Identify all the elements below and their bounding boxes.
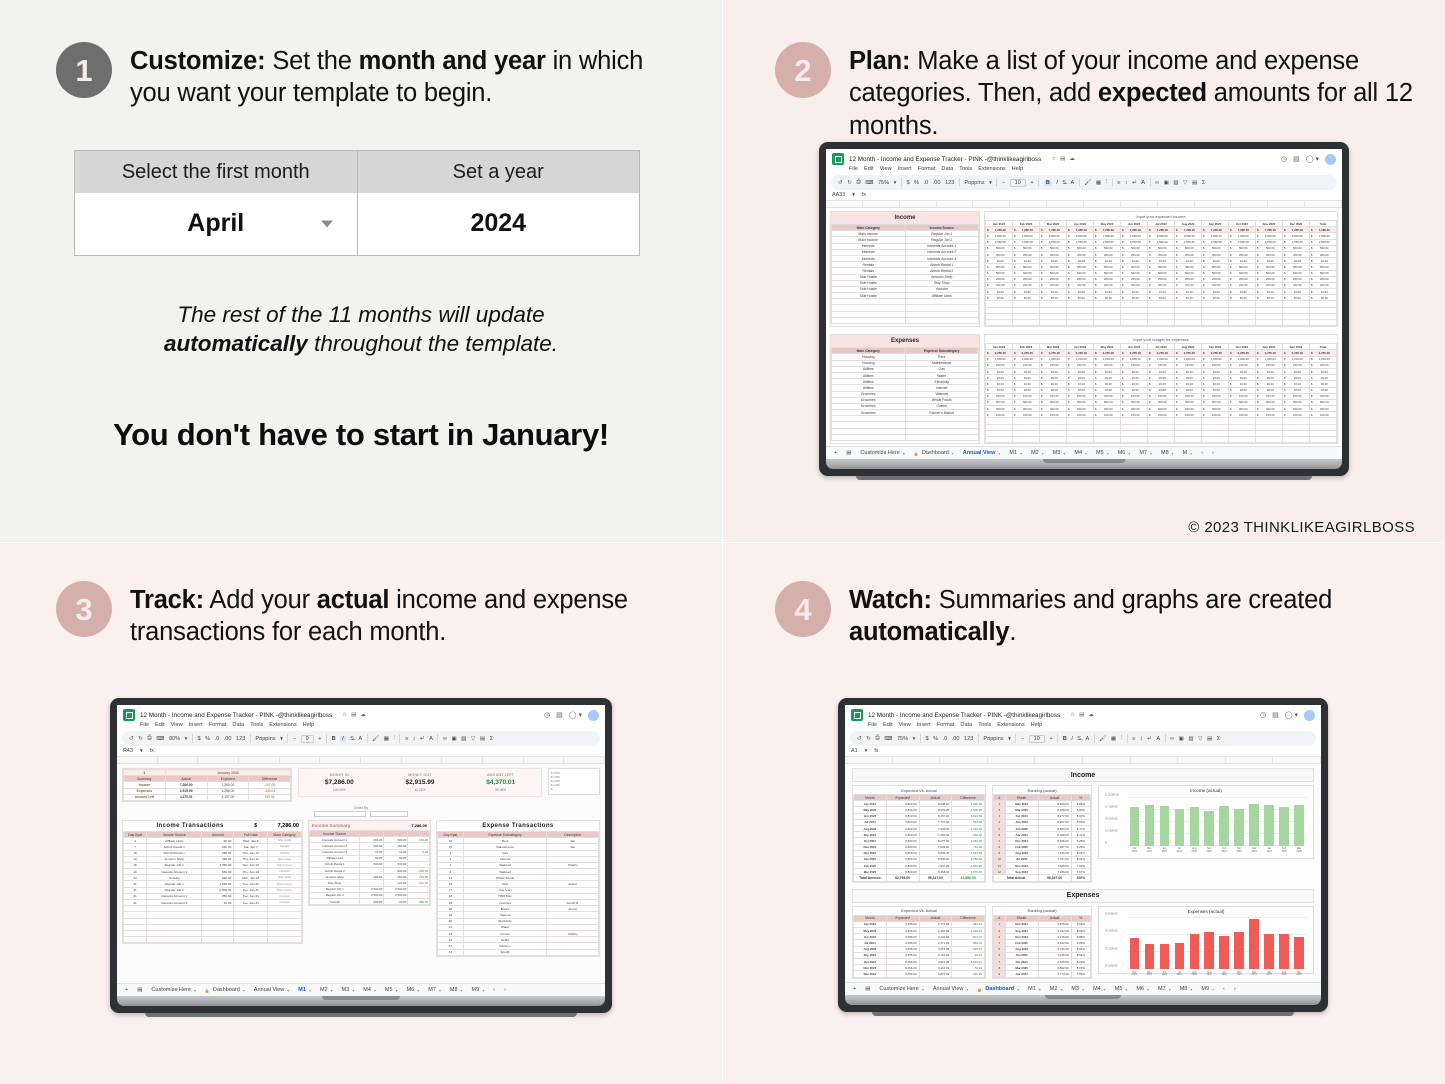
text-color-icon[interactable]: A: [1086, 736, 1090, 742]
document-title-3[interactable]: 12 Month - Income and Expense Tracker - …: [140, 712, 332, 719]
menu-help[interactable]: Help: [303, 722, 315, 728]
column-header[interactable]: [826, 201, 863, 207]
column-header[interactable]: [1121, 201, 1158, 207]
table-row[interactable]: [124, 937, 302, 943]
all-sheets-icon[interactable]: ▤: [865, 986, 870, 992]
amount-cell-empty[interactable]: [1067, 320, 1094, 326]
menu-format[interactable]: Format: [937, 722, 955, 728]
bold-icon[interactable]: B: [1063, 736, 1067, 742]
italic-icon[interactable]: I: [340, 736, 346, 742]
chevron-down-icon[interactable]: ▾: [374, 988, 376, 993]
italic-icon[interactable]: I: [1071, 736, 1073, 742]
sheet-tab-customize-here[interactable]: Customize Here▾: [151, 987, 195, 993]
amount-cell-empty[interactable]: [1229, 320, 1256, 326]
chevron-down-icon[interactable]: ▾: [309, 988, 311, 993]
menu-edit[interactable]: Edit: [864, 166, 874, 172]
text-wrap-icon[interactable]: ↵: [420, 736, 425, 742]
history-icon[interactable]: ◷: [1281, 155, 1287, 163]
insert-comment-icon[interactable]: ▣: [1164, 180, 1169, 186]
etx-day[interactable]: 31: [438, 949, 464, 955]
tx-empty[interactable]: [202, 937, 234, 943]
horizontal-align-icon[interactable]: ≡: [1132, 736, 1135, 742]
amount-cell-empty[interactable]: [1067, 437, 1094, 443]
undo-icon[interactable]: ↺: [129, 736, 134, 742]
etx-subcategory[interactable]: Spotify: [463, 949, 547, 955]
sigma-icon[interactable]: Σ: [490, 736, 493, 742]
order-by-select-1[interactable]: [314, 811, 366, 817]
income-summary-table[interactable]: Income Source Interests Account 1666.005…: [309, 830, 430, 905]
sigma-icon[interactable]: Σ: [1202, 180, 1205, 186]
more-formats-icon[interactable]: 123: [236, 736, 245, 742]
table-row[interactable]: Dec 20243,056.003,876.99820.99: [854, 971, 985, 977]
tx-empty[interactable]: [268, 937, 302, 943]
spreadsheet-grid-2[interactable]: Income Main Category Income Source Main …: [826, 208, 1342, 456]
expenses-amounts-table[interactable]: Jan 2023Feb 2023Mar 2023Apr 2023May 2023…: [985, 343, 1337, 443]
amount-cell-empty[interactable]: [1283, 320, 1310, 326]
menu-format[interactable]: Format: [918, 166, 936, 172]
star-icon[interactable]: ☆: [1051, 156, 1056, 162]
chevron-down-icon[interactable]: ▾: [396, 988, 398, 993]
history-icon[interactable]: ◷: [544, 711, 550, 719]
avatar[interactable]: [588, 710, 599, 721]
amount-cell-empty[interactable]: [1094, 437, 1121, 443]
font-size-input-2[interactable]: 10: [1010, 179, 1026, 187]
vertical-align-icon[interactable]: ↕: [1125, 180, 1128, 186]
amount-cell-empty[interactable]: [1229, 437, 1256, 443]
text-color-icon[interactable]: A: [358, 736, 362, 742]
amount-cell-empty[interactable]: [1148, 320, 1175, 326]
amount-cell-empty[interactable]: [1013, 320, 1040, 326]
zoom-caret-icon[interactable]: ▾: [894, 180, 897, 186]
column-header[interactable]: [1010, 201, 1047, 207]
scroll-left-icon[interactable]: ‹: [493, 987, 495, 993]
menu-view[interactable]: View: [899, 722, 911, 728]
menu-tools[interactable]: Tools: [978, 722, 991, 728]
text-wrap-icon[interactable]: ↵: [1147, 736, 1152, 742]
sheet-tab-m7[interactable]: M7▾: [1139, 450, 1152, 456]
income-eva-table[interactable]: Month Expected Actual Difference Apr 202…: [853, 794, 985, 882]
sheet-tab-m5[interactable]: M5▾: [1096, 450, 1109, 456]
add-sheet-icon[interactable]: +: [853, 986, 856, 992]
font-caret-icon[interactable]: ▾: [1008, 736, 1011, 742]
percent-icon[interactable]: %: [205, 736, 210, 742]
sheet-tab-m5[interactable]: M5▾: [1115, 986, 1128, 992]
menu-data[interactable]: Data: [232, 722, 244, 728]
month-summary-table[interactable]: 1 January 2023 Summary Actual Expected D…: [123, 769, 291, 801]
comment-icon[interactable]: ▤: [556, 711, 563, 719]
menu-format[interactable]: Format: [209, 722, 227, 728]
text-rotation-icon[interactable]: A: [1141, 180, 1145, 186]
link-icon[interactable]: ∞: [1155, 180, 1159, 186]
chevron-down-icon[interactable]: ▾: [1082, 987, 1084, 992]
sheet-tab-dashboard[interactable]: 🔒Dashboard▾: [205, 987, 245, 993]
table-row[interactable]: [832, 317, 979, 323]
menu-extensions[interactable]: Extensions: [978, 166, 1005, 172]
move-icon[interactable]: ▤: [1079, 712, 1084, 718]
column-header[interactable]: [198, 757, 239, 763]
chevron-down-icon[interactable]: ▾: [1212, 987, 1214, 992]
paint-format-icon[interactable]: ⌨: [884, 736, 892, 742]
amount-cell-empty[interactable]: [1202, 437, 1229, 443]
link-icon[interactable]: ∞: [1170, 736, 1174, 742]
cloud-icon[interactable]: ☁: [360, 712, 366, 718]
font-family-select-3[interactable]: Poppins: [255, 736, 275, 742]
tx-empty[interactable]: [234, 937, 268, 943]
menu-view[interactable]: View: [171, 722, 183, 728]
expenses-ranking-table[interactable]: # Month Actual % 1Dec 20243,876.999.63%2…: [993, 915, 1091, 978]
cell-reference-4[interactable]: A1: [851, 748, 858, 754]
column-header[interactable]: [1231, 201, 1268, 207]
menu-insert[interactable]: Insert: [898, 166, 912, 172]
borders-icon[interactable]: ▦: [1096, 180, 1101, 186]
font-increase-icon[interactable]: +: [318, 736, 321, 742]
tx-empty[interactable]: [147, 937, 202, 943]
table-row[interactable]: [986, 437, 1337, 443]
column-header[interactable]: [1047, 201, 1084, 207]
chevron-down-icon[interactable]: ▾: [903, 451, 905, 456]
redo-icon[interactable]: ↻: [847, 180, 852, 186]
menu-file[interactable]: File: [849, 166, 858, 172]
sheet-tab-customize-here[interactable]: Customize Here▾: [879, 986, 923, 992]
meet-icon[interactable]: ◯ ▾: [1306, 155, 1319, 163]
chevron-down-icon[interactable]: ▾: [331, 988, 333, 993]
expenses-category-table[interactable]: Main Category Expense Subcategory Housin…: [831, 347, 979, 441]
chevron-down-icon[interactable]: ▾: [439, 988, 441, 993]
strikethrough-icon[interactable]: S̶: [1077, 736, 1081, 742]
merge-cells-icon[interactable]: ⫶: [1106, 179, 1107, 186]
chevron-down-icon[interactable]: ▾: [1172, 451, 1174, 456]
sigma-icon[interactable]: Σ: [1217, 736, 1220, 742]
history-icon[interactable]: ◷: [1260, 711, 1266, 719]
chevron-down-icon[interactable]: ▾: [952, 451, 954, 456]
insert-chart-icon[interactable]: ▨: [461, 736, 466, 742]
document-title-4[interactable]: 12 Month - Income and Expense Tracker - …: [868, 712, 1060, 719]
column-header[interactable]: [1158, 201, 1195, 207]
menu-view[interactable]: View: [880, 166, 892, 172]
scroll-right-icon[interactable]: ›: [1234, 986, 1236, 992]
currency-icon[interactable]: $: [906, 180, 909, 186]
sheet-tab-annual-view[interactable]: Annual View▾: [963, 450, 1001, 456]
menu-data[interactable]: Data: [960, 722, 972, 728]
column-header[interactable]: [239, 757, 280, 763]
name-box-caret-icon[interactable]: ▾: [140, 748, 143, 754]
scroll-right-icon[interactable]: ›: [1212, 450, 1214, 456]
add-sheet-icon[interactable]: +: [834, 450, 837, 456]
zoom-level-4[interactable]: 75%: [897, 736, 908, 742]
menu-data[interactable]: Data: [941, 166, 953, 172]
chevron-down-icon[interactable]: ▾: [1060, 987, 1062, 992]
star-icon[interactable]: ☆: [1070, 712, 1075, 718]
name-box-caret-icon[interactable]: ▾: [852, 192, 855, 198]
table-row[interactable]: Youtube399.0010.00389.00: [310, 899, 430, 905]
strikethrough-icon[interactable]: S̶: [350, 736, 354, 742]
bold-icon[interactable]: B: [1044, 180, 1052, 186]
fill-color-icon[interactable]: 🖌: [372, 736, 379, 742]
menu-edit[interactable]: Edit: [883, 722, 893, 728]
move-icon[interactable]: ▤: [351, 712, 356, 718]
amount-cell-empty[interactable]: [1121, 320, 1148, 326]
column-header[interactable]: [402, 757, 443, 763]
chevron-down-icon[interactable]: ▾: [1150, 451, 1152, 456]
column-header[interactable]: [158, 757, 199, 763]
insert-comment-icon[interactable]: ▣: [1179, 736, 1184, 742]
chevron-down-icon[interactable]: ▾: [1169, 987, 1171, 992]
chevron-down-icon[interactable]: ▾: [287, 988, 289, 993]
insert-chart-icon[interactable]: ▨: [1173, 180, 1178, 186]
menu-file[interactable]: File: [868, 722, 877, 728]
chevron-down-icon[interactable]: ▾: [1020, 451, 1022, 456]
sheet-tab-m2[interactable]: M2▾: [1031, 450, 1044, 456]
star-icon[interactable]: ☆: [342, 712, 347, 718]
amount-cell-empty[interactable]: [1094, 320, 1121, 326]
sheet-tab-m4[interactable]: M4▾: [1074, 450, 1087, 456]
sheet-tab-m7[interactable]: M7▾: [1158, 986, 1171, 992]
order-by-select-2[interactable]: [370, 811, 408, 817]
scroll-left-icon[interactable]: ‹: [1201, 450, 1203, 456]
income-amounts-table[interactable]: Jan 2023Feb 2023Mar 2023Apr 2023May 2023…: [985, 220, 1337, 326]
column-header[interactable]: [937, 201, 974, 207]
column-header[interactable]: [845, 757, 893, 763]
scroll-right-icon[interactable]: ›: [504, 987, 506, 993]
amount-cell-empty[interactable]: [1175, 437, 1202, 443]
sheet-tab-dashboard[interactable]: 🔒Dashboard▾: [914, 450, 954, 456]
chevron-down-icon[interactable]: ▾: [1190, 987, 1192, 992]
column-header[interactable]: [1178, 757, 1226, 763]
cell-reference-3[interactable]: R43: [123, 748, 133, 754]
sheet-tab-m5[interactable]: M5▾: [385, 987, 398, 993]
sheet-tab-m6[interactable]: M6▾: [1136, 986, 1149, 992]
comment-icon[interactable]: ▤: [1293, 155, 1300, 163]
sheet-tab-annual-view[interactable]: Annual View▾: [933, 986, 969, 992]
avatar[interactable]: [1304, 710, 1315, 721]
expenses-eva-table[interactable]: Month Expected Actual Difference Apr 202…: [853, 915, 985, 978]
functions-icon[interactable]: ▤: [480, 736, 485, 742]
sheet-tab-m1[interactable]: M1▾: [1028, 986, 1041, 992]
all-sheets-icon[interactable]: ▤: [137, 987, 142, 993]
functions-icon[interactable]: ▤: [1207, 736, 1212, 742]
font-family-select-4[interactable]: Poppins: [983, 736, 1003, 742]
fill-color-icon[interactable]: 🖌: [1099, 736, 1106, 742]
font-family-select-2[interactable]: Poppins: [964, 180, 984, 186]
month-dropdown[interactable]: April: [75, 193, 358, 255]
menu-insert[interactable]: Insert: [189, 722, 203, 728]
chevron-down-icon[interactable]: ▾: [417, 988, 419, 993]
amount-cell-empty[interactable]: [1148, 437, 1175, 443]
chevron-down-icon[interactable]: ▾: [1107, 451, 1109, 456]
chevron-down-icon[interactable]: ▾: [998, 451, 1000, 456]
sheet-tab-m[interactable]: M▾: [1183, 450, 1193, 456]
font-increase-icon[interactable]: +: [1030, 180, 1033, 186]
table-row[interactable]: [832, 434, 979, 440]
zoom-level-2[interactable]: 75%: [878, 180, 889, 186]
font-size-input-4[interactable]: 10: [1029, 735, 1045, 743]
menu-insert[interactable]: Insert: [917, 722, 931, 728]
horizontal-align-icon[interactable]: ≡: [1117, 180, 1120, 186]
functions-icon[interactable]: ▤: [1192, 180, 1197, 186]
decimal-decrease-icon[interactable]: .0: [943, 736, 948, 742]
borders-icon[interactable]: ▦: [384, 736, 389, 742]
sheet-tab-m7[interactable]: M7▾: [428, 987, 441, 993]
percent-icon[interactable]: %: [933, 736, 938, 742]
sheet-tab-m8[interactable]: M8▾: [450, 987, 463, 993]
sheet-tab-m2[interactable]: M2▾: [320, 987, 333, 993]
currency-icon[interactable]: $: [925, 736, 928, 742]
chevron-down-icon[interactable]: ▾: [1128, 451, 1130, 456]
sheet-tab-m9[interactable]: M9▾: [1201, 986, 1214, 992]
sheet-tab-m3[interactable]: M3▾: [1071, 986, 1084, 992]
strikethrough-icon[interactable]: S̶: [1062, 180, 1066, 186]
dashboard-grid-4[interactable]: Income Expected Vs. Actual Month Expecte…: [845, 764, 1321, 992]
column-header[interactable]: [1083, 757, 1131, 763]
font-decrease-icon[interactable]: −: [1002, 180, 1005, 186]
horizontal-align-icon[interactable]: ≡: [405, 736, 408, 742]
income-transactions-table[interactable]: Day Kyat Income Source Amount Full Date …: [123, 831, 302, 943]
comment-icon[interactable]: ▤: [1272, 711, 1279, 719]
column-header[interactable]: [483, 757, 524, 763]
chevron-down-icon[interactable]: ▾: [482, 988, 484, 993]
amount-cell-empty[interactable]: [1040, 320, 1067, 326]
chevron-down-icon[interactable]: ▾: [966, 987, 968, 992]
amount-cell-empty[interactable]: [1310, 320, 1337, 326]
column-header[interactable]: [361, 757, 402, 763]
filter-icon[interactable]: ▽: [1183, 180, 1187, 186]
amount-cell-empty[interactable]: [1175, 320, 1202, 326]
column-header[interactable]: [524, 757, 565, 763]
column-header[interactable]: [1273, 757, 1321, 763]
add-sheet-icon[interactable]: +: [125, 987, 128, 993]
table-row[interactable]: 31Spotify: [438, 949, 599, 955]
column-header[interactable]: [564, 757, 605, 763]
table-row[interactable]: [986, 320, 1337, 326]
column-header[interactable]: [940, 757, 988, 763]
amount-cell-empty[interactable]: [1121, 437, 1148, 443]
table-row[interactable]: 9Apr 20242,774.997.89%: [994, 971, 1091, 977]
expense-transactions-table[interactable]: Day Kyat Expense Subcategory Description…: [437, 831, 599, 956]
decimal-increase-icon[interactable]: .00: [952, 736, 960, 742]
amount-cell-empty[interactable]: [1040, 437, 1067, 443]
zoom-caret-icon[interactable]: ▾: [913, 736, 916, 742]
column-header[interactable]: [900, 201, 937, 207]
amount-cell-empty[interactable]: [1202, 320, 1229, 326]
paint-format-icon[interactable]: ⌨: [865, 180, 873, 186]
print-icon[interactable]: ⎙: [856, 179, 860, 186]
move-icon[interactable]: ▤: [1060, 156, 1065, 162]
chevron-down-icon[interactable]: ▾: [461, 988, 463, 993]
avatar[interactable]: [1325, 154, 1336, 165]
etx-description[interactable]: [547, 949, 599, 955]
menu-tools[interactable]: Tools: [250, 722, 263, 728]
amount-cell-empty[interactable]: [1310, 437, 1337, 443]
name-box-caret-icon[interactable]: ▾: [865, 748, 868, 754]
chevron-down-icon[interactable]: ▾: [243, 988, 245, 993]
sheet-tab-m9[interactable]: M9▾: [472, 987, 485, 993]
column-header[interactable]: [117, 757, 158, 763]
menu-extensions[interactable]: Extensions: [269, 722, 296, 728]
font-increase-icon[interactable]: +: [1049, 736, 1052, 742]
chevron-down-icon[interactable]: ▾: [1104, 987, 1106, 992]
cloud-icon[interactable]: ☁: [1088, 712, 1094, 718]
sheet-tab-m8[interactable]: M8▾: [1161, 450, 1174, 456]
document-title-2[interactable]: 12 Month - Income and Expense Tracker - …: [849, 156, 1041, 163]
column-header[interactable]: [1226, 757, 1274, 763]
undo-icon[interactable]: ↺: [857, 736, 862, 742]
filter-icon[interactable]: ▽: [1198, 736, 1202, 742]
font-decrease-icon[interactable]: −: [1021, 736, 1024, 742]
chevron-down-icon[interactable]: ▾: [1125, 987, 1127, 992]
amount-cell-empty[interactable]: [1013, 437, 1040, 443]
tx-empty[interactable]: [124, 937, 147, 943]
sheet-tab-m1[interactable]: M1▾: [1009, 450, 1022, 456]
meet-icon[interactable]: ◯ ▾: [569, 711, 582, 719]
cell-reference-2[interactable]: AA33: [832, 192, 845, 198]
menu-help[interactable]: Help: [1012, 166, 1024, 172]
redo-icon[interactable]: ↻: [866, 736, 871, 742]
sheet-tab-annual-view[interactable]: Annual View▾: [254, 987, 290, 993]
link-icon[interactable]: ∞: [443, 736, 447, 742]
amount-cell-empty[interactable]: [1256, 437, 1283, 443]
decimal-increase-icon[interactable]: .00: [933, 180, 941, 186]
column-header[interactable]: [1305, 201, 1342, 207]
year-input[interactable]: 2024: [358, 193, 640, 255]
chevron-down-icon[interactable]: ▾: [194, 988, 196, 993]
column-header[interactable]: [1268, 201, 1305, 207]
currency-icon[interactable]: $: [197, 736, 200, 742]
sheet-tab-m6[interactable]: M6▾: [407, 987, 420, 993]
chevron-down-icon[interactable]: ▾: [1017, 987, 1019, 992]
undo-icon[interactable]: ↺: [838, 180, 843, 186]
font-size-input-3[interactable]: 9: [301, 735, 314, 743]
scroll-left-icon[interactable]: ‹: [1223, 986, 1225, 992]
column-header[interactable]: [1084, 201, 1121, 207]
sheet-tab-m4[interactable]: M4▾: [363, 987, 376, 993]
chevron-down-icon[interactable]: ▾: [1063, 451, 1065, 456]
bold-icon[interactable]: B: [332, 736, 336, 742]
column-header[interactable]: [1035, 757, 1083, 763]
column-header[interactable]: [320, 757, 361, 763]
column-header[interactable]: [1195, 201, 1232, 207]
income-ranking-table[interactable]: # Month Actual % 1May 20248,509.008.85%2…: [993, 794, 1091, 882]
sheet-tab-m3[interactable]: M3▾: [1053, 450, 1066, 456]
print-icon[interactable]: ⎙: [875, 735, 879, 742]
percent-icon[interactable]: %: [914, 180, 919, 186]
menu-tools[interactable]: Tools: [959, 166, 972, 172]
vertical-align-icon[interactable]: ↕: [413, 736, 416, 742]
sheet-tab-dashboard[interactable]: 🔒Dashboard▾: [977, 986, 1019, 992]
merge-cells-icon[interactable]: ⫶: [1121, 735, 1122, 742]
print-icon[interactable]: ⎙: [147, 735, 151, 742]
all-sheets-icon[interactable]: ▤: [846, 450, 851, 456]
table-row[interactable]: Amount Left4,370.014,137.00233.01: [124, 794, 291, 800]
decimal-decrease-icon[interactable]: .0: [215, 736, 220, 742]
text-wrap-icon[interactable]: ↵: [1132, 180, 1137, 186]
column-header[interactable]: [280, 757, 321, 763]
sheet-tab-m2[interactable]: M2▾: [1050, 986, 1063, 992]
amount-cell-empty[interactable]: [1256, 320, 1283, 326]
menu-extensions[interactable]: Extensions: [997, 722, 1024, 728]
chevron-down-icon[interactable]: ▾: [1190, 451, 1192, 456]
sheet-tab-m8[interactable]: M8▾: [1180, 986, 1193, 992]
sheet-tab-m6[interactable]: M6▾: [1118, 450, 1131, 456]
text-rotation-icon[interactable]: A: [429, 736, 433, 742]
menu-help[interactable]: Help: [1031, 722, 1043, 728]
sheet-tab-m1[interactable]: M1▾: [298, 987, 311, 993]
chevron-down-icon[interactable]: ▾: [1042, 451, 1044, 456]
italic-icon[interactable]: I: [1056, 180, 1058, 186]
insert-chart-icon[interactable]: ▨: [1188, 736, 1193, 742]
text-color-icon[interactable]: A: [1071, 180, 1075, 186]
column-header[interactable]: [442, 757, 483, 763]
amount-cell-empty[interactable]: [1283, 437, 1310, 443]
